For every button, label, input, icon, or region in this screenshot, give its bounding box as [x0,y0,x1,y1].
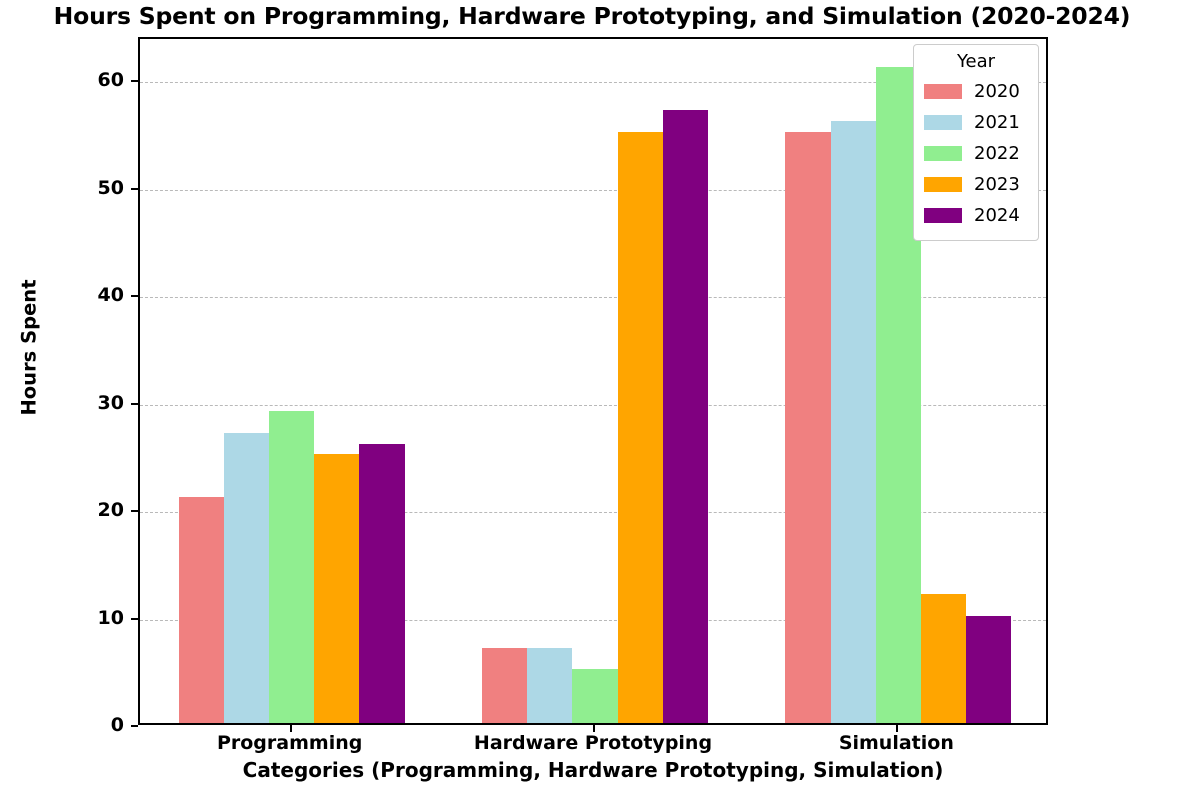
y-tick-mark [131,725,138,727]
bar [921,594,966,723]
y-tick-label: 30 [98,392,124,414]
bar [527,648,572,723]
y-tick-mark [131,188,138,190]
x-tick-label: Hardware Prototyping [474,732,712,754]
bars-layer [140,39,1046,723]
bar [314,454,359,723]
legend-label: 2021 [974,112,1020,133]
bar [269,411,314,723]
y-axis-label: Hours Spent [18,168,41,528]
bar [179,497,224,723]
legend-label: 2023 [974,174,1020,195]
x-tick-mark [290,725,292,732]
x-tick-mark [896,725,898,732]
x-tick-label: Programming [217,732,362,754]
legend: Year 20202021202220232024 [913,44,1039,241]
bar [224,433,269,723]
bar [785,132,830,723]
x-tick-mark [593,725,595,732]
legend-label: 2024 [974,205,1020,226]
legend-swatch-icon [924,146,962,161]
y-tick-mark [131,618,138,620]
bar [966,616,1011,724]
bar [359,444,404,724]
y-tick-label: 50 [98,177,124,199]
legend-swatch-icon [924,84,962,99]
y-tick-label: 60 [98,69,124,91]
y-tick-mark [131,295,138,297]
y-tick-label: 40 [98,284,124,306]
y-tick-label: 0 [111,714,124,736]
legend-swatch-icon [924,208,962,223]
legend-item[interactable]: 2021 [924,107,1028,138]
bar [482,648,527,723]
legend-rows: 20202021202220232024 [924,76,1028,231]
legend-item[interactable]: 2023 [924,169,1028,200]
legend-label: 2020 [974,81,1020,102]
y-tick-label: 20 [98,499,124,521]
legend-label: 2022 [974,143,1020,164]
x-tick-label: Simulation [839,732,954,754]
legend-item[interactable]: 2024 [924,200,1028,231]
plot-area [138,37,1048,725]
bar [663,110,708,723]
legend-swatch-icon [924,177,962,192]
legend-swatch-icon [924,115,962,130]
legend-item[interactable]: 2020 [924,76,1028,107]
legend-item[interactable]: 2022 [924,138,1028,169]
y-tick-mark [131,80,138,82]
chart-title: Hours Spent on Programming, Hardware Pro… [0,2,1184,30]
y-tick-mark [131,510,138,512]
y-tick-mark [131,403,138,405]
bar [572,669,617,723]
chart-figure: Hours Spent on Programming, Hardware Pro… [0,0,1184,790]
bar [618,132,663,723]
legend-title: Year [924,51,1028,72]
x-axis-label: Categories (Programming, Hardware Protot… [138,758,1048,782]
bar [831,121,876,723]
y-tick-label: 10 [98,607,124,629]
